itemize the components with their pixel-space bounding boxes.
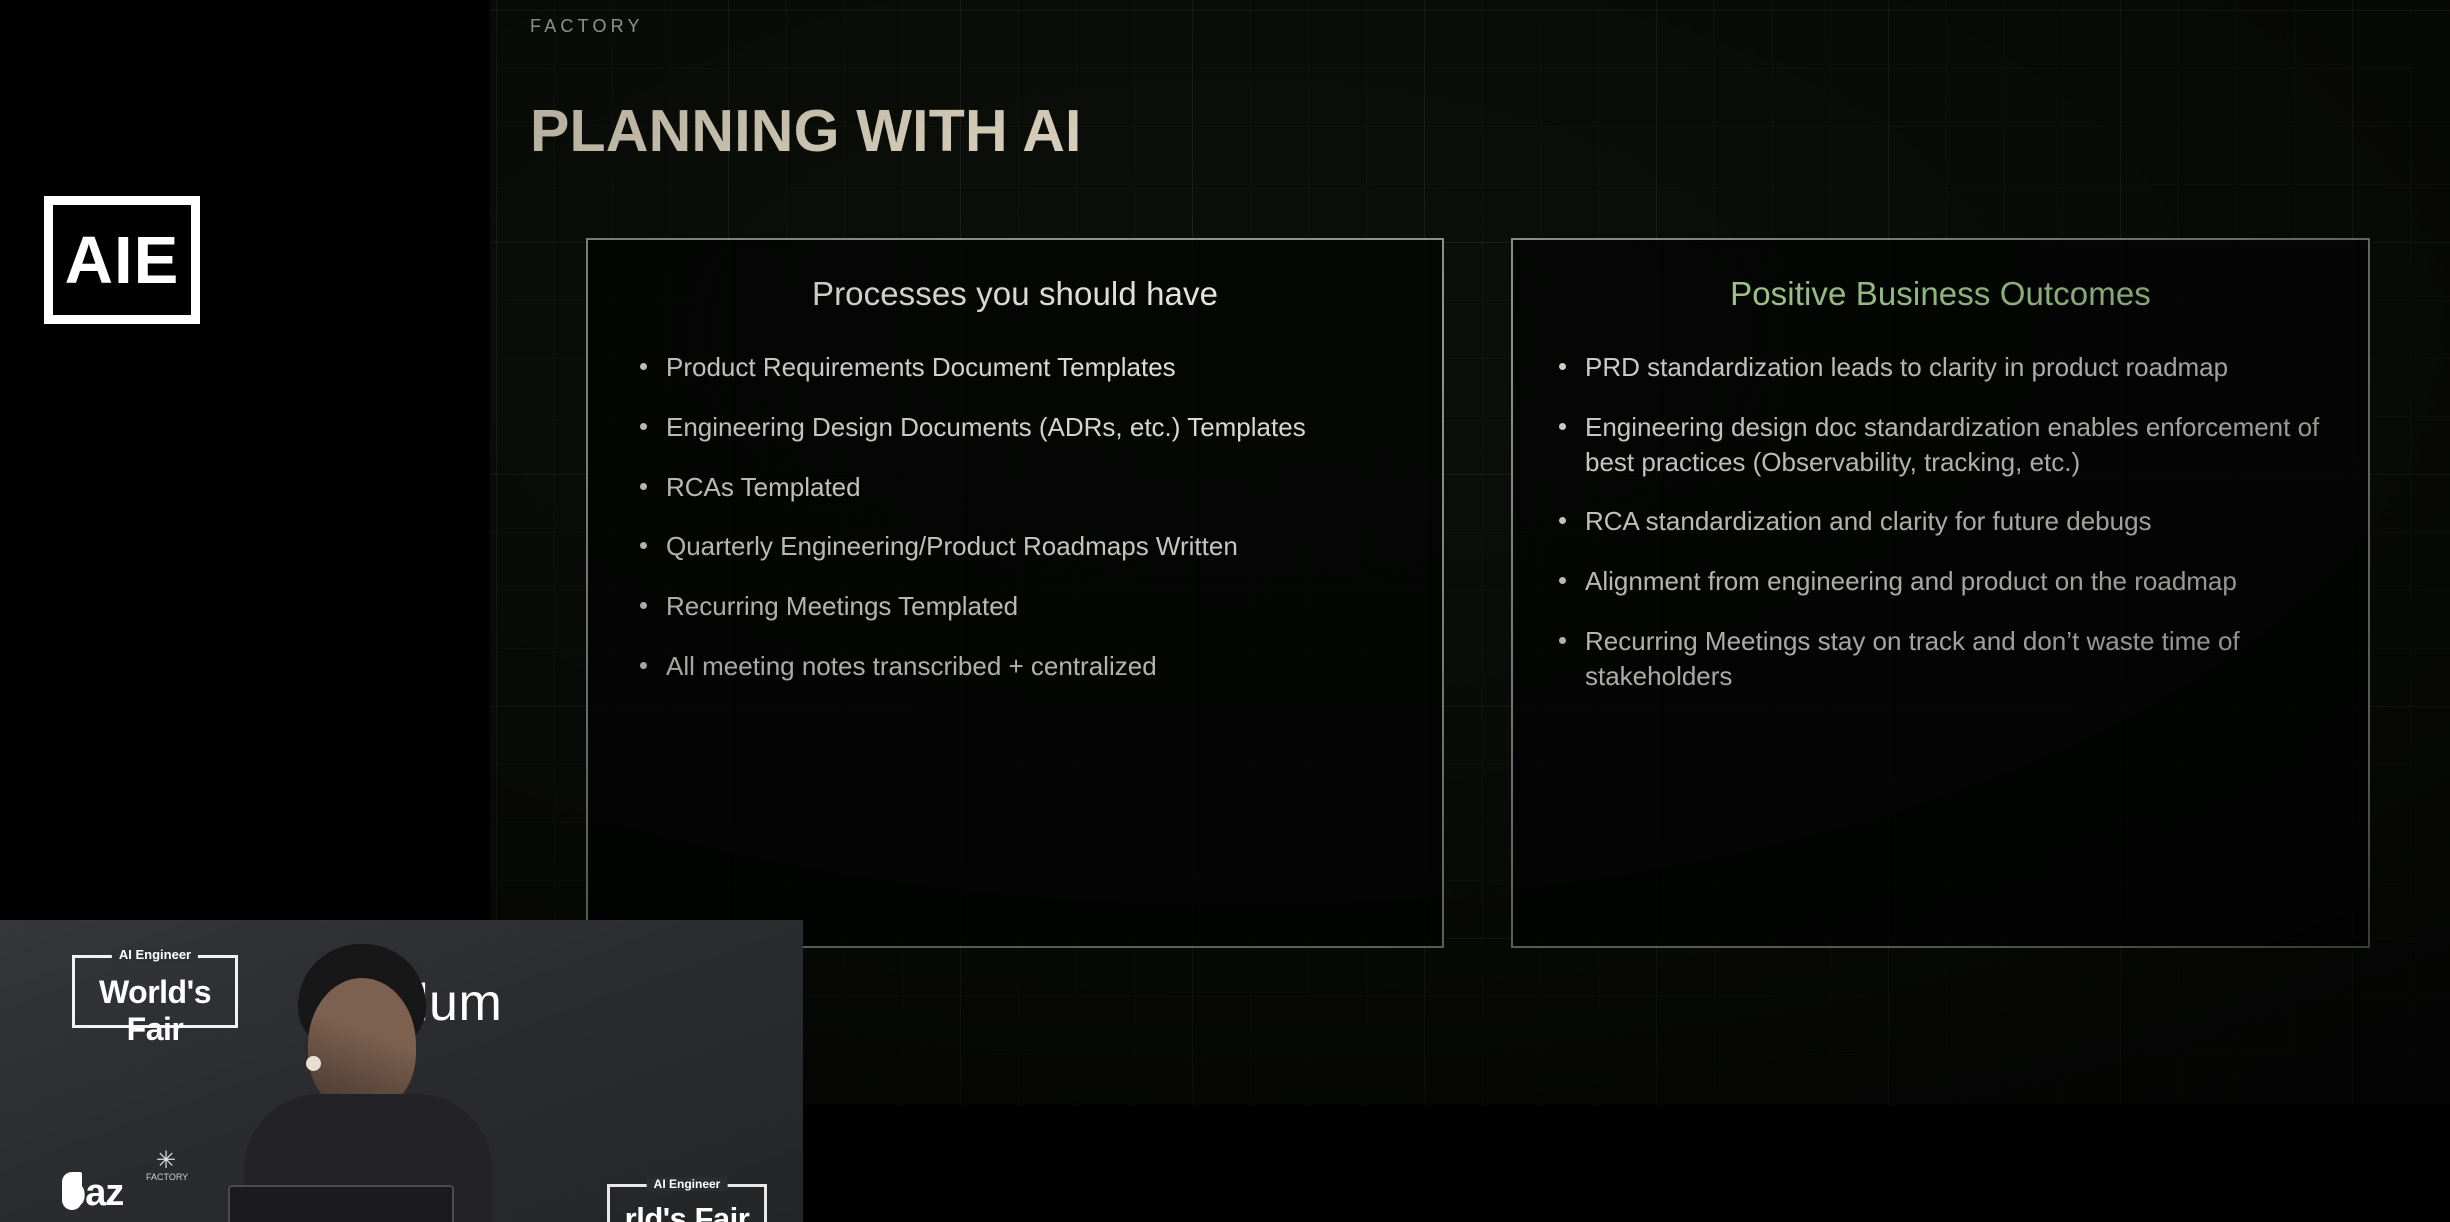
factory-asterisk-icon: ✳ [146,1150,186,1172]
list-item: All meeting notes transcribed + centrali… [636,649,1408,684]
list-item: PRD standardization leads to clarity in … [1555,350,2340,385]
column-left-title: Processes you should have [588,275,1442,313]
list-item: RCA standardization and clarity for futu… [1555,504,2340,539]
speaker-person [238,944,538,1222]
aie-logo: AIE [44,196,200,324]
column-processes: Processes you should have Product Requir… [586,238,1444,948]
slide-title: PLANNING WITH AI [530,102,1082,161]
list-item: Quarterly Engineering/Product Roadmaps W… [636,529,1408,564]
list-item: Recurring Meetings Templated [636,589,1408,624]
list-item: RCAs Templated [636,470,1408,505]
column-right-title: Positive Business Outcomes [1513,275,2368,313]
speaker-video-overlay[interactable]: AI Engineer World's Fair vellum ✳ FACTOR… [0,920,803,1222]
list-item: Recurring Meetings stay on track and don… [1555,624,2340,694]
worlds-fair-banner-secondary: AI Engineer rld's Fair [607,1184,767,1222]
list-item: Engineering design doc standardization e… [1555,410,2340,480]
worlds-fair-banner: AI Engineer World's Fair [72,955,238,1028]
list-item: Product Requirements Document Templates [636,350,1408,385]
column-right-bullet-list: PRD standardization leads to clarity in … [1513,350,2368,694]
column-left-bullet-list: Product Requirements Document Templates … [588,350,1442,684]
factory-shirt-label: FACTORY [146,1172,188,1182]
speaker-face-shading [308,978,416,1112]
aie-logo-text: AIE [65,227,180,294]
factory-shirt-logo: ✳ FACTORY [146,1150,186,1194]
worlds-fair-banner-secondary-eyebrow: AI Engineer [647,1177,728,1191]
worlds-fair-banner-secondary-name: rld's Fair [610,1201,764,1222]
column-outcomes: Positive Business Outcomes PRD standardi… [1511,238,2370,948]
baz-sponsor-logo: baz [63,1172,123,1215]
headset-mic-icon [306,1056,321,1071]
worlds-fair-banner-name: World's Fair [75,974,235,1048]
list-item: Alignment from engineering and product o… [1555,564,2340,599]
laptop [228,1185,454,1222]
slide-brand-eyebrow: FACTORY [530,16,644,37]
list-item: Engineering Design Documents (ADRs, etc.… [636,410,1408,445]
worlds-fair-banner-eyebrow: AI Engineer [112,947,198,962]
